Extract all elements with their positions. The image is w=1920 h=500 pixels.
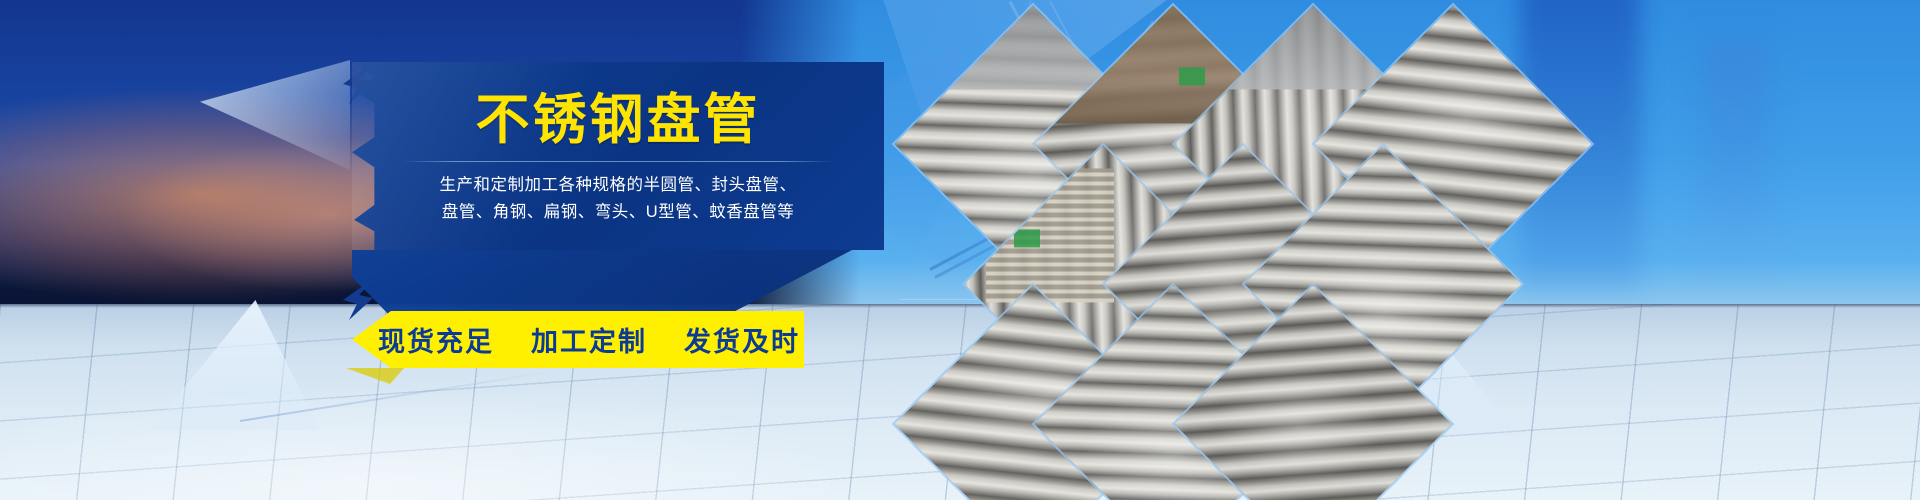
subtitle-line-1: 生产和定制加工各种规格的半圆管、封头盘管、: [440, 172, 797, 199]
page-title: 不锈钢盘管: [476, 93, 761, 147]
slogan-item-2: 加工定制: [531, 327, 647, 357]
slogan-ribbon: 现货充足 加工定制 发货及时: [352, 311, 804, 368]
headline-panel-content: 不锈钢盘管 生产和定制加工各种规格的半圆管、封头盘管、 盘管、角钢、扁钢、弯头、…: [352, 62, 884, 250]
product-banner: 不锈钢盘管 生产和定制加工各种规格的半圆管、封头盘管、 盘管、角钢、扁钢、弯头、…: [0, 0, 1920, 500]
title-divider: [403, 161, 833, 162]
slogan-item-1: 现货充足: [378, 327, 494, 357]
subtitle-line-2: 盘管、角钢、扁钢、弯头、U型管、蚊香盘管等: [442, 199, 794, 226]
product-photo-collage: [835, 0, 1535, 500]
building-silhouette-secondary-icon: [1700, 40, 1770, 270]
slogan-item-3: 发货及时: [684, 327, 800, 357]
slogan-ribbon-text: 现货充足 加工定制 发货及时: [356, 320, 800, 359]
